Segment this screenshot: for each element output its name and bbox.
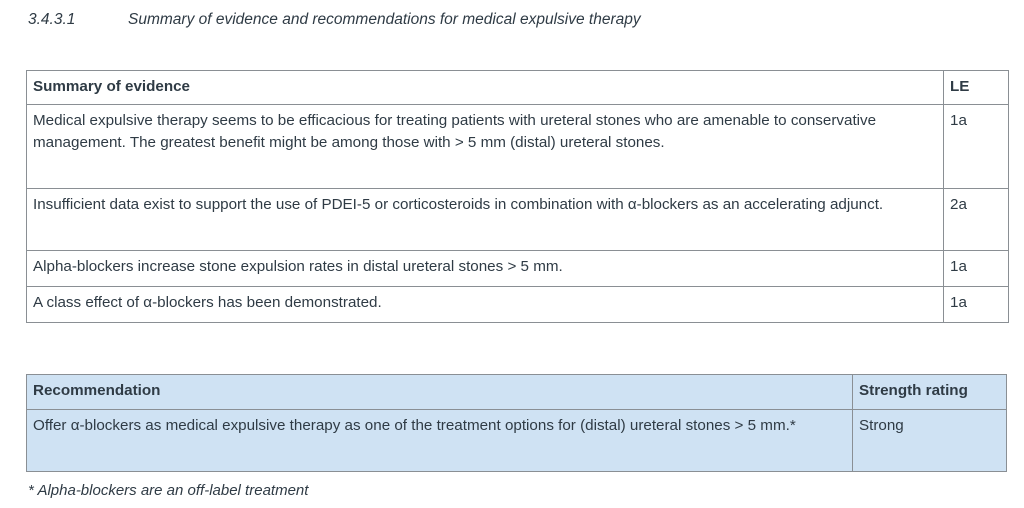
table-row: Alpha-blockers increase stone expulsion … (27, 251, 1009, 287)
column-header-le: LE (944, 71, 1009, 105)
evidence-statement: A class effect of α-blockers has been de… (27, 287, 944, 323)
table-row: Offer α-blockers as medical expulsive th… (27, 410, 1007, 472)
table-header-row: Summary of evidence LE (27, 71, 1009, 105)
evidence-statement: Insufficient data exist to support the u… (27, 189, 944, 251)
recommendation-strength-rating: Strong (853, 410, 1007, 472)
summary-of-evidence-table: Summary of evidence LE Medical expulsive… (26, 70, 1009, 323)
document-page: 3.4.3.1 Summary of evidence and recommen… (0, 0, 1024, 508)
table-header-row: Recommendation Strength rating (27, 375, 1007, 410)
section-number: 3.4.3.1 (28, 10, 128, 30)
recommendation-statement: Offer α-blockers as medical expulsive th… (27, 410, 853, 472)
evidence-le-value: 1a (944, 105, 1009, 189)
column-header-summary-of-evidence: Summary of evidence (27, 71, 944, 105)
column-header-strength-rating: Strength rating (853, 375, 1007, 410)
evidence-statement: Medical expulsive therapy seems to be ef… (27, 105, 944, 189)
table-row: Insufficient data exist to support the u… (27, 189, 1009, 251)
section-title: Summary of evidence and recommendations … (128, 10, 641, 30)
evidence-le-value: 2a (944, 189, 1009, 251)
recommendation-table: Recommendation Strength rating Offer α-b… (26, 374, 1007, 472)
evidence-le-value: 1a (944, 251, 1009, 287)
evidence-statement: Alpha-blockers increase stone expulsion … (27, 251, 944, 287)
footnote: * Alpha-blockers are an off-label treatm… (28, 481, 308, 501)
column-header-recommendation: Recommendation (27, 375, 853, 410)
table-row: A class effect of α-blockers has been de… (27, 287, 1009, 323)
evidence-le-value: 1a (944, 287, 1009, 323)
table-row: Medical expulsive therapy seems to be ef… (27, 105, 1009, 189)
section-heading: 3.4.3.1 Summary of evidence and recommen… (28, 10, 641, 30)
